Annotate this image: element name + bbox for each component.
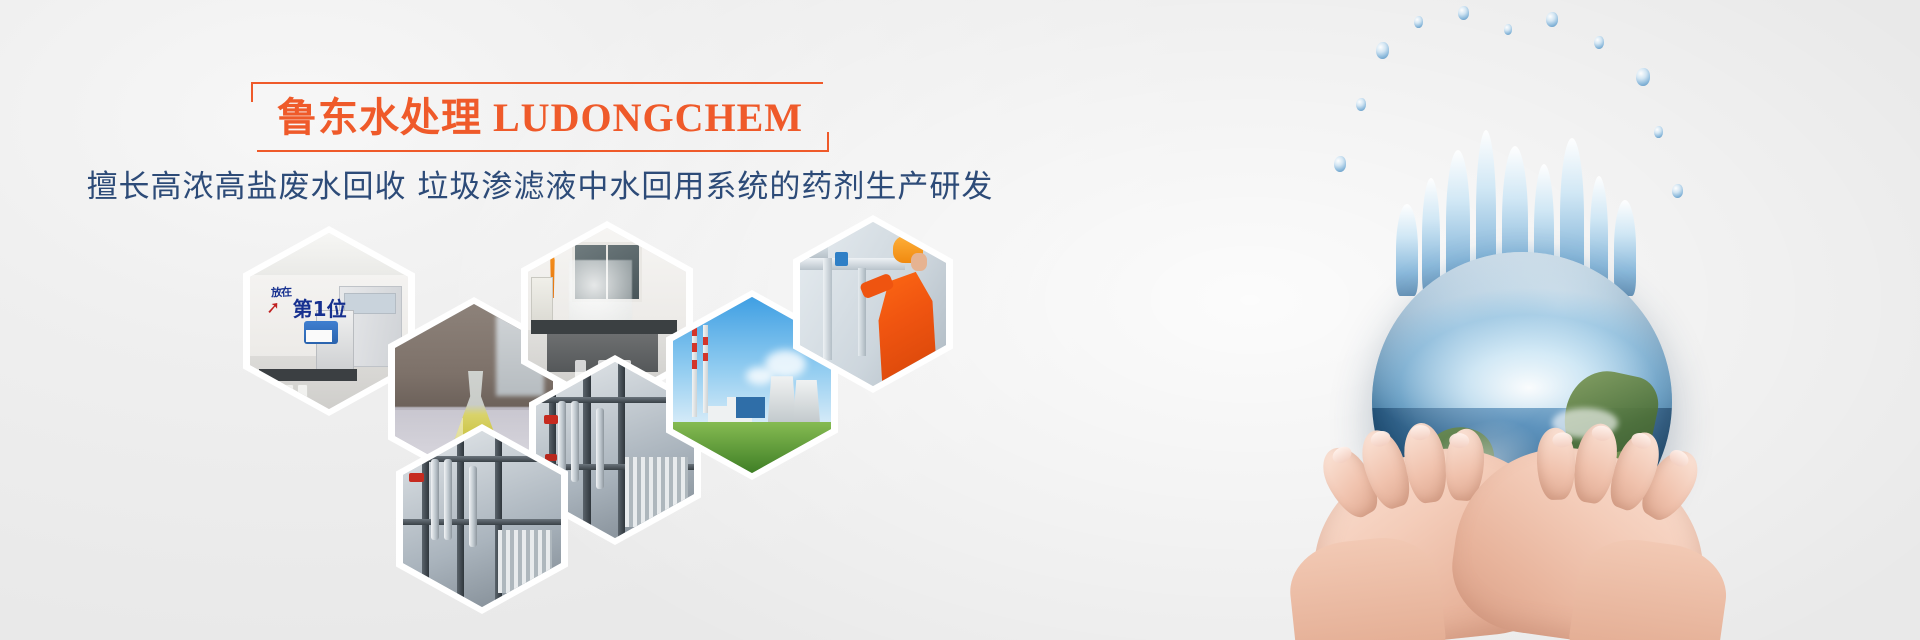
page-subtitle: 擅长高浓高盐废水回收 垃圾渗滤液中水回用系统的药剂生产研发 xyxy=(0,161,1080,206)
page-title: 鲁东水处理 LUDONGCHEM xyxy=(277,96,803,141)
water-globe-illustration xyxy=(1080,0,1920,640)
wall-slogan-arrow: ➚ xyxy=(265,298,281,319)
title-container: 鲁东水处理 LUDONGCHEM xyxy=(251,92,829,143)
hero-banner: 放在 ➚ 第1位 xyxy=(0,0,1920,640)
bracket-top-left-icon xyxy=(251,82,273,102)
wall-slogan-main: 第1位 xyxy=(293,293,347,322)
title-rule-top xyxy=(257,82,823,84)
hands-holding-globe xyxy=(1306,400,1706,640)
bracket-bottom-right-icon xyxy=(807,132,829,152)
banner-text-block: 鲁东水处理 LUDONGCHEM 擅长高浓高盐废水回收 垃圾渗滤液中水回用系统的… xyxy=(0,92,1080,206)
title-rule-bottom xyxy=(257,150,823,152)
